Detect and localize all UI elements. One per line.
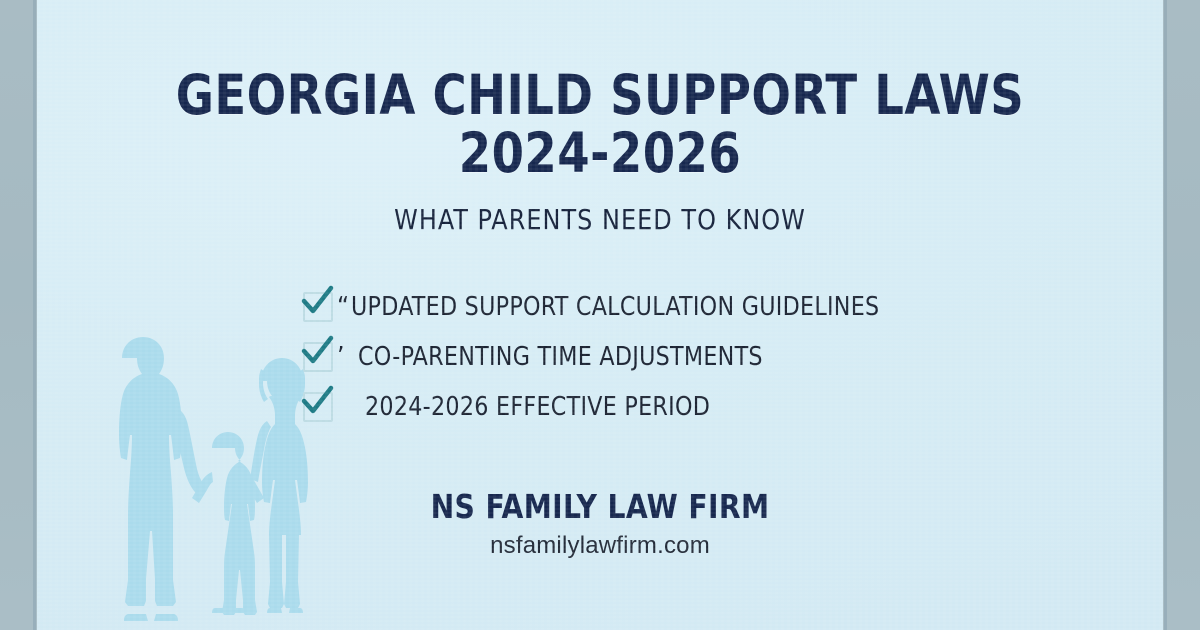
list-item-label: 2024-2026 EFFECTIVE PERIOD xyxy=(365,392,710,422)
check-icon xyxy=(303,292,333,322)
list-item: 2024-2026 EFFECTIVE PERIOD xyxy=(303,383,1003,431)
list-item-label: UPDATED SUPPORT CALCULATION GUIDELINES xyxy=(351,292,879,322)
poster-graphic: GEORGIA CHILD SUPPORT LAWS 2024-2026 WHA… xyxy=(0,0,1200,630)
firm-name: NS FAMILY LAW FIRM xyxy=(65,487,1135,526)
list-item-quote-mark: “ xyxy=(337,292,349,322)
firm-website[interactable]: nsfamilylawfirm.com xyxy=(37,532,1163,560)
feature-checklist: “ UPDATED SUPPORT CALCULATION GUIDELINES… xyxy=(303,283,1003,433)
check-icon xyxy=(303,342,333,372)
letterbox-bar-left xyxy=(0,0,37,630)
title-line-2: 2024-2026 xyxy=(71,124,1129,182)
list-item-quote-mark: ’ xyxy=(337,342,344,372)
list-item: “ UPDATED SUPPORT CALCULATION GUIDELINES xyxy=(303,283,1003,331)
list-item-label: CO-PARENTING TIME ADJUSTMENTS xyxy=(358,342,763,372)
page-title: GEORGIA CHILD SUPPORT LAWS 2024-2026 xyxy=(71,66,1129,183)
poster-canvas: GEORGIA CHILD SUPPORT LAWS 2024-2026 WHA… xyxy=(37,0,1163,630)
title-line-1: GEORGIA CHILD SUPPORT LAWS xyxy=(176,63,1024,127)
letterbox-bar-right xyxy=(1163,0,1200,630)
letterbox-seam-left xyxy=(33,0,36,630)
list-item: ’ CO-PARENTING TIME ADJUSTMENTS xyxy=(303,333,1003,381)
page-subtitle: WHAT PARENTS NEED TO KNOW xyxy=(65,203,1135,236)
letterbox-seam-right xyxy=(1164,0,1167,630)
check-icon xyxy=(303,392,333,422)
